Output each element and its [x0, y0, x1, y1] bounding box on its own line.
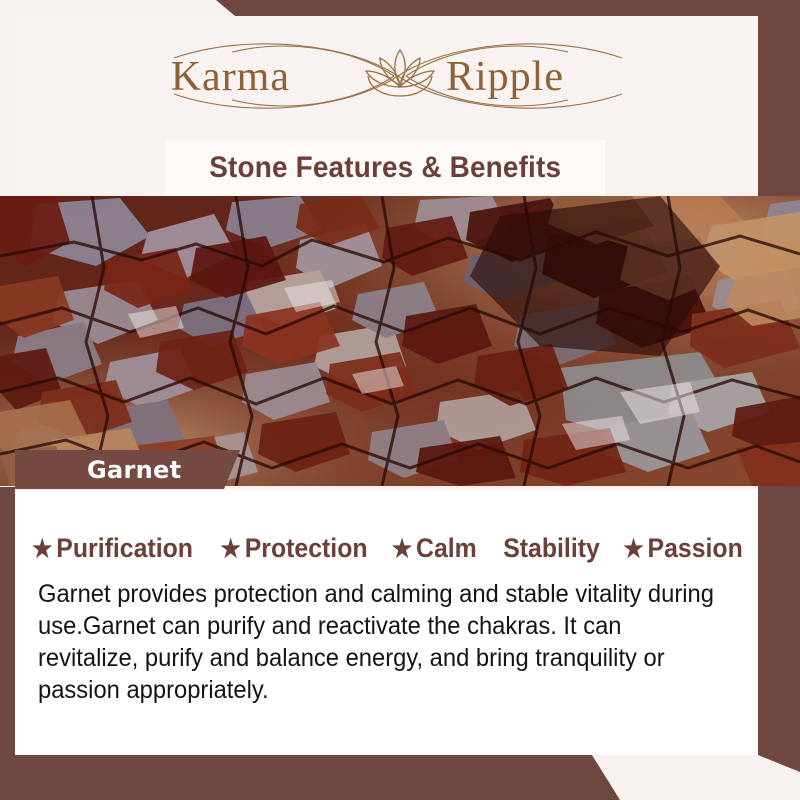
benefit-keyword: Stability [503, 533, 600, 564]
star-icon: ★ [221, 537, 242, 562]
frame-bar-bottom [0, 755, 620, 800]
title-banner: Stone Features & Benefits [165, 140, 605, 196]
star-icon: ★ [392, 537, 413, 562]
benefit-keyword-label: Passion [647, 533, 742, 564]
benefit-keyword-row: ★ Purification ★ Protection ★ Calm Stabi… [15, 528, 758, 568]
star-icon: ★ [623, 537, 644, 562]
logo-artwork: Karma Ripple [140, 30, 660, 126]
benefit-keyword-label: Purification [57, 533, 194, 564]
stone-name-tag: Garnet [15, 450, 262, 489]
benefit-keyword: ★ Calm [392, 533, 477, 564]
logo-word-left: Karma [171, 54, 290, 100]
stone-photo [0, 196, 800, 486]
star-icon: ★ [32, 537, 53, 562]
benefit-keyword-label: Calm [416, 533, 477, 564]
benefit-keyword-label: Protection [245, 533, 368, 564]
frame-bar-left [0, 487, 15, 800]
logo-word-right: Ripple [446, 54, 564, 100]
stone-name-label: Garnet [15, 456, 181, 484]
brand-logo: Karma Ripple [0, 28, 800, 128]
stone-description: Garnet provides protection and calming a… [38, 578, 714, 706]
benefit-keyword-label: Stability [503, 533, 600, 564]
benefit-keyword: ★ Passion [623, 533, 743, 564]
lotus-icon [366, 50, 434, 96]
stone-photo-artwork [0, 196, 800, 486]
page-title: Stone Features & Benefits [209, 151, 561, 185]
infographic-card: Karma Ripple Stone Features & Benefits [0, 0, 800, 800]
benefit-keyword: ★ Purification [32, 533, 193, 564]
frame-bar-top [210, 0, 800, 16]
benefit-keyword: ★ Protection [221, 533, 368, 564]
